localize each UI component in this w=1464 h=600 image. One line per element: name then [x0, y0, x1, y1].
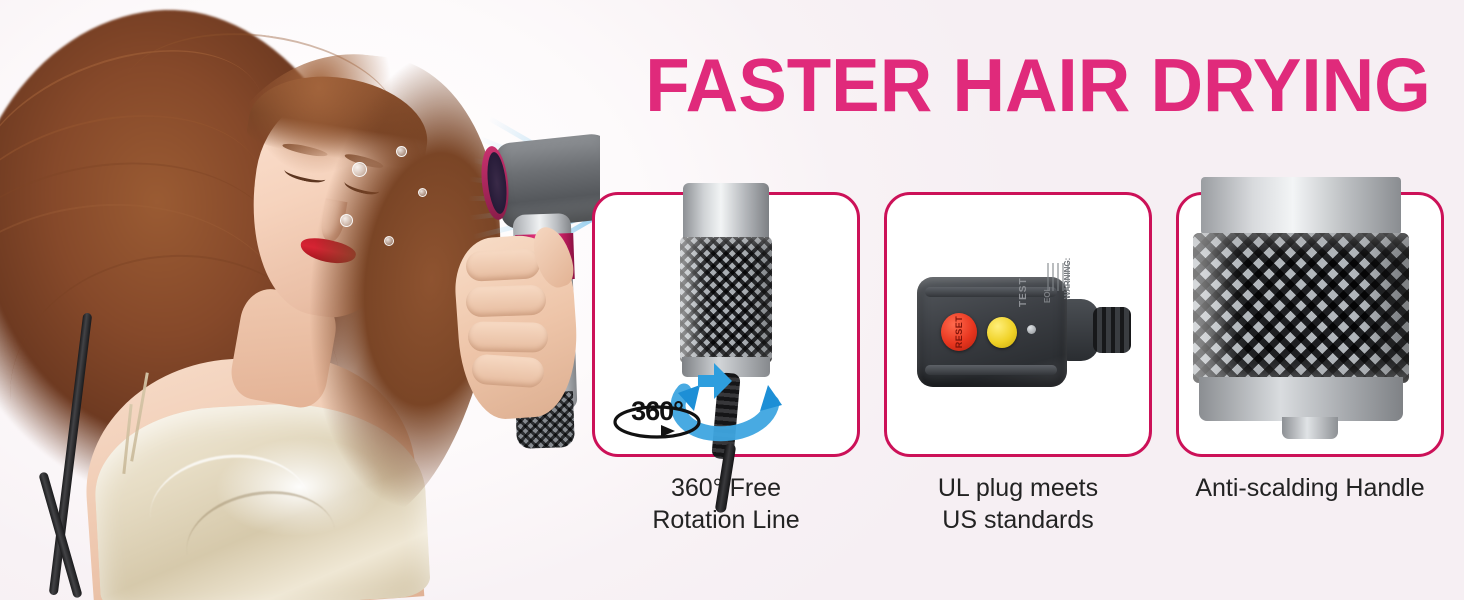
plug-ridge: [925, 365, 1057, 375]
finger: [465, 248, 540, 282]
feature-card-ul-plug: RESET TEST EOL WARNING:: [884, 192, 1152, 457]
badge-360-label: 360°: [609, 396, 705, 427]
finger: [466, 285, 547, 318]
caption-ul-plug: UL plug meets US standards: [884, 472, 1152, 536]
photo-canvas: [0, 0, 600, 600]
caption-rotation: 360° Free Rotation Line: [592, 472, 860, 536]
reset-button[interactable]: RESET: [941, 313, 977, 351]
handle-perforated-mesh: [1193, 233, 1409, 383]
feature-caption-list: 360° Free Rotation Line UL plug meets US…: [592, 472, 1444, 536]
page-title: FASTER HAIR DRYING: [640, 48, 1435, 123]
air-bubble: [418, 188, 427, 197]
rotation-media: 360°: [595, 195, 857, 454]
handle-base: [1199, 377, 1403, 421]
air-bubble: [384, 236, 394, 246]
test-button[interactable]: [987, 317, 1017, 348]
caption-anti-scalding: Anti-scalding Handle: [1176, 472, 1444, 536]
finger: [468, 321, 549, 352]
badge-360: 360°: [609, 390, 705, 442]
handle-media: [1179, 195, 1441, 454]
indicator-led: [1027, 325, 1036, 334]
air-bubble: [396, 146, 407, 157]
plug-ridge: [925, 287, 1057, 297]
fine-print-lines: [1047, 263, 1133, 291]
air-bubble: [352, 162, 367, 177]
plug-cord-boot: [1093, 307, 1131, 353]
plug-media: RESET TEST EOL WARNING:: [887, 195, 1149, 454]
product-feature-banner: FASTER HAIR DRYING: [0, 0, 1464, 600]
air-bubble: [340, 214, 353, 227]
finger: [471, 354, 545, 389]
model-product-photo: [0, 0, 600, 600]
handle-collar: [1201, 177, 1401, 235]
feature-card-rotation: 360°: [592, 192, 860, 457]
reset-button-label: RESET: [954, 316, 964, 349]
feature-card-list: 360° RESET TEST EOL WARNING:: [592, 192, 1444, 457]
handle-foot: [1282, 417, 1338, 439]
nozzle-collar: [683, 183, 769, 239]
test-button-label: TEST: [1018, 277, 1029, 307]
feature-card-anti-scalding: [1176, 192, 1444, 457]
